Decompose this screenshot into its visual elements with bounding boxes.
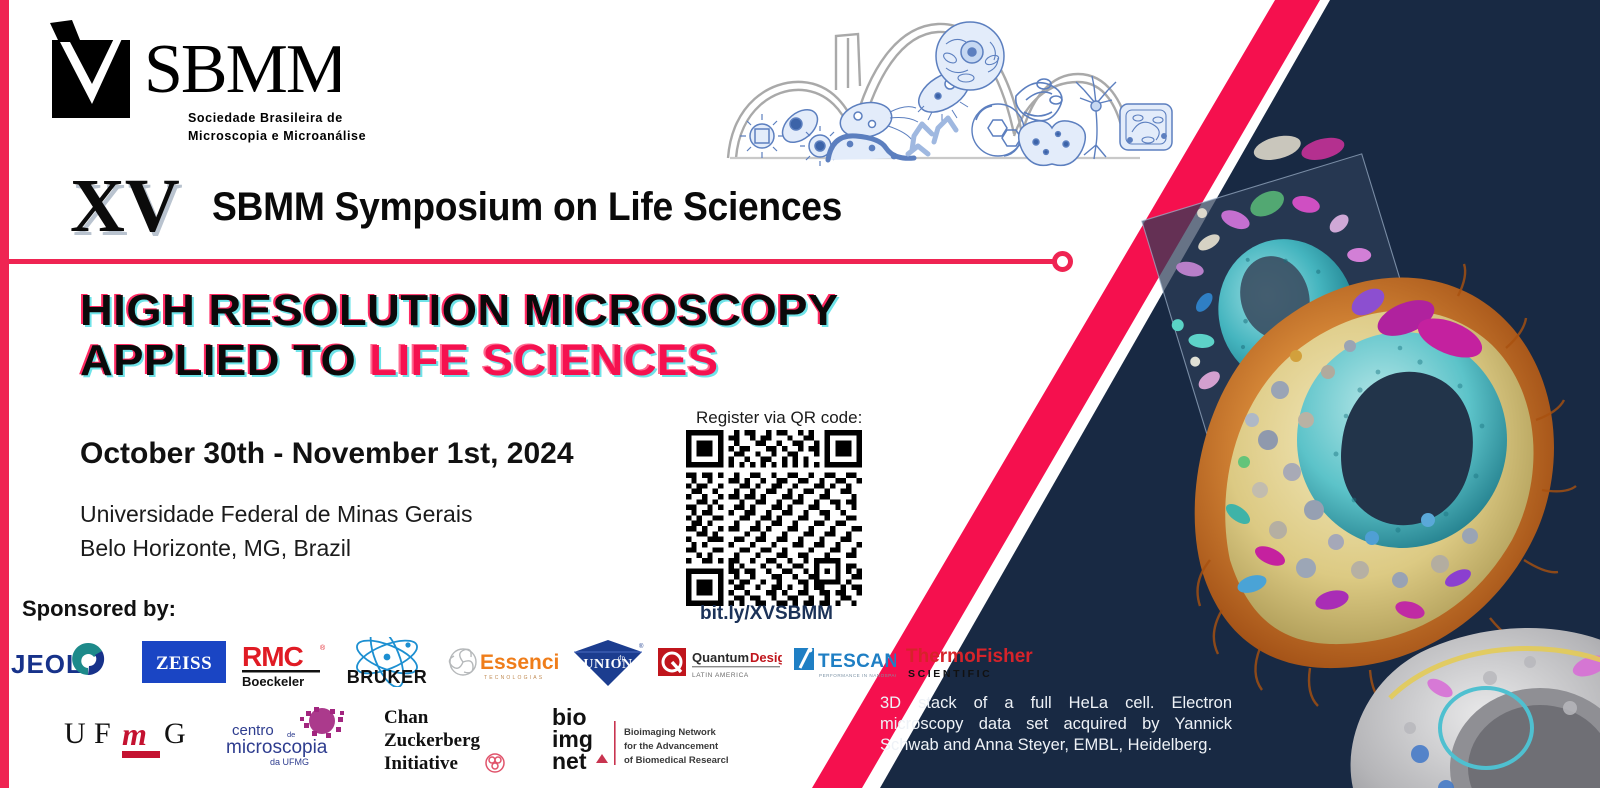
sponsor-row-primary: JEOL ZEISS RMC ® Boeckeler: [10, 636, 870, 688]
svg-text:LATIN AMERICA: LATIN AMERICA: [692, 672, 749, 679]
svg-text:Essencis: Essencis: [480, 651, 558, 674]
headline-line-2-dark: APPLIED TO: [80, 336, 369, 385]
event-venue: Universidade Federal de Minas Gerais Bel…: [80, 497, 472, 565]
svg-text:F: F: [94, 717, 111, 750]
svg-text:U: U: [64, 717, 86, 750]
sbmm-logo: SBMM Sociedade Brasileira de Microscopia…: [40, 18, 340, 153]
svg-text:G: G: [164, 717, 186, 750]
conference-poster: SBMM Sociedade Brasileira de Microscopia…: [0, 0, 1600, 788]
svg-text:Initiative: Initiative: [384, 753, 458, 773]
divider-line: [8, 259, 1056, 264]
hela-cell-3d-render: [1110, 90, 1600, 788]
sponsor-logo-thermo-fisher[interactable]: ThermoFisher SCIENTIFIC: [906, 636, 1036, 688]
svg-text:®: ®: [639, 643, 644, 650]
headline-line-2-accent: LIFE SCIENCES: [369, 336, 718, 385]
qr-code[interactable]: [686, 430, 862, 606]
edition-number: XV: [70, 168, 180, 244]
sponsor-logo-essencis[interactable]: Essencis TECNOLOGIAS: [446, 636, 558, 688]
sponsor-logo-tescan[interactable]: TESCAN PERFORMANCE IN NANOSPACE: [792, 636, 896, 688]
svg-text:da UFMG: da UFMG: [270, 757, 309, 767]
svg-text:Boeckeler: Boeckeler: [242, 674, 304, 688]
sponsor-logo-union[interactable]: UNION dp ®: [568, 636, 648, 688]
svg-text:BRUKER: BRUKER: [347, 667, 428, 687]
sbmm-subtitle-line1: Sociedade Brasileira de: [188, 111, 343, 125]
sbmm-subtitle-line2: Microscopia e Microanálise: [188, 129, 366, 143]
svg-text:for the Advancement: for the Advancement: [624, 741, 719, 752]
svg-text:microscopia: microscopia: [226, 737, 328, 758]
poster-headline: HIGH RESOLUTION MICROSCOPY APPLIED TO LI…: [80, 286, 839, 386]
svg-text:Bioimaging Network: Bioimaging Network: [624, 727, 717, 738]
svg-text:ZEISS: ZEISS: [156, 653, 212, 674]
sponsor-logo-ufmg[interactable]: U F m G: [60, 702, 200, 774]
venue-university: Universidade Federal de Minas Gerais: [80, 497, 472, 531]
sponsor-logo-chan-zuckerberg-initiative[interactable]: Chan Zuckerberg Initiative: [384, 702, 530, 774]
sponsor-logo-zeiss[interactable]: ZEISS: [138, 636, 230, 688]
svg-text:Quantum: Quantum: [692, 650, 749, 665]
sponsor-logo-rmc-boeckeler[interactable]: RMC ® Boeckeler: [240, 636, 328, 688]
svg-text:m: m: [122, 716, 147, 752]
svg-text:®: ®: [320, 644, 326, 652]
svg-text:dp: dp: [618, 654, 626, 662]
sponsor-logo-bioimgnet[interactable]: bio img net Bioimaging Network for the A…: [552, 702, 728, 774]
headline-line-2: APPLIED TO LIFE SCIENCES: [80, 336, 839, 386]
venue-city: Belo Horizonte, MG, Brazil: [80, 531, 472, 565]
sponsor-row-secondary: U F m G centro de microscopia: [60, 702, 710, 774]
divider-end-dot: [1052, 251, 1073, 272]
svg-text:SBMM: SBMM: [144, 31, 340, 108]
svg-text:UNION: UNION: [583, 657, 632, 672]
svg-text:JEOL: JEOL: [11, 649, 83, 679]
svg-text:of Biomedical Research: of Biomedical Research: [624, 755, 728, 766]
left-accent-bar: [0, 0, 9, 788]
symposium-title: SBMM Symposium on Life Sciences: [212, 185, 842, 229]
sponsor-logo-bruker[interactable]: BRUKER: [338, 636, 436, 688]
svg-text:Zuckerberg: Zuckerberg: [384, 730, 481, 751]
life-sciences-illustration: [700, 8, 1180, 168]
svg-text:Chan: Chan: [384, 707, 429, 728]
sponsors-heading: Sponsored by:: [22, 596, 176, 622]
sponsor-logo-centro-microscopia-ufmg[interactable]: centro de microscopia da UFMG: [222, 702, 362, 774]
svg-text:Design: Design: [750, 650, 782, 665]
svg-text:SCIENTIFIC: SCIENTIFIC: [908, 668, 992, 680]
image-caption: 3D stack of a full HeLa cell. Electron m…: [880, 693, 1232, 756]
svg-text:ThermoFisher: ThermoFisher: [906, 646, 1033, 667]
svg-text:PERFORMANCE IN NANOSPACE: PERFORMANCE IN NANOSPACE: [819, 673, 896, 678]
svg-text:TECNOLOGIAS: TECNOLOGIAS: [484, 675, 544, 681]
registration-link[interactable]: bit.ly/XVSBMM: [700, 603, 833, 625]
headline-line-1: HIGH RESOLUTION MICROSCOPY: [80, 286, 839, 336]
svg-text:net: net: [552, 748, 587, 773]
sponsor-logo-quantum-design[interactable]: Quantum Design LATIN AMERICA: [658, 636, 782, 688]
qr-label: Register via QR code:: [696, 408, 862, 428]
svg-text:TESCAN: TESCAN: [818, 651, 896, 672]
svg-text:RMC: RMC: [242, 641, 304, 672]
event-dates: October 30th - November 1st, 2024: [80, 437, 574, 471]
sponsor-logo-jeol[interactable]: JEOL: [10, 636, 128, 688]
